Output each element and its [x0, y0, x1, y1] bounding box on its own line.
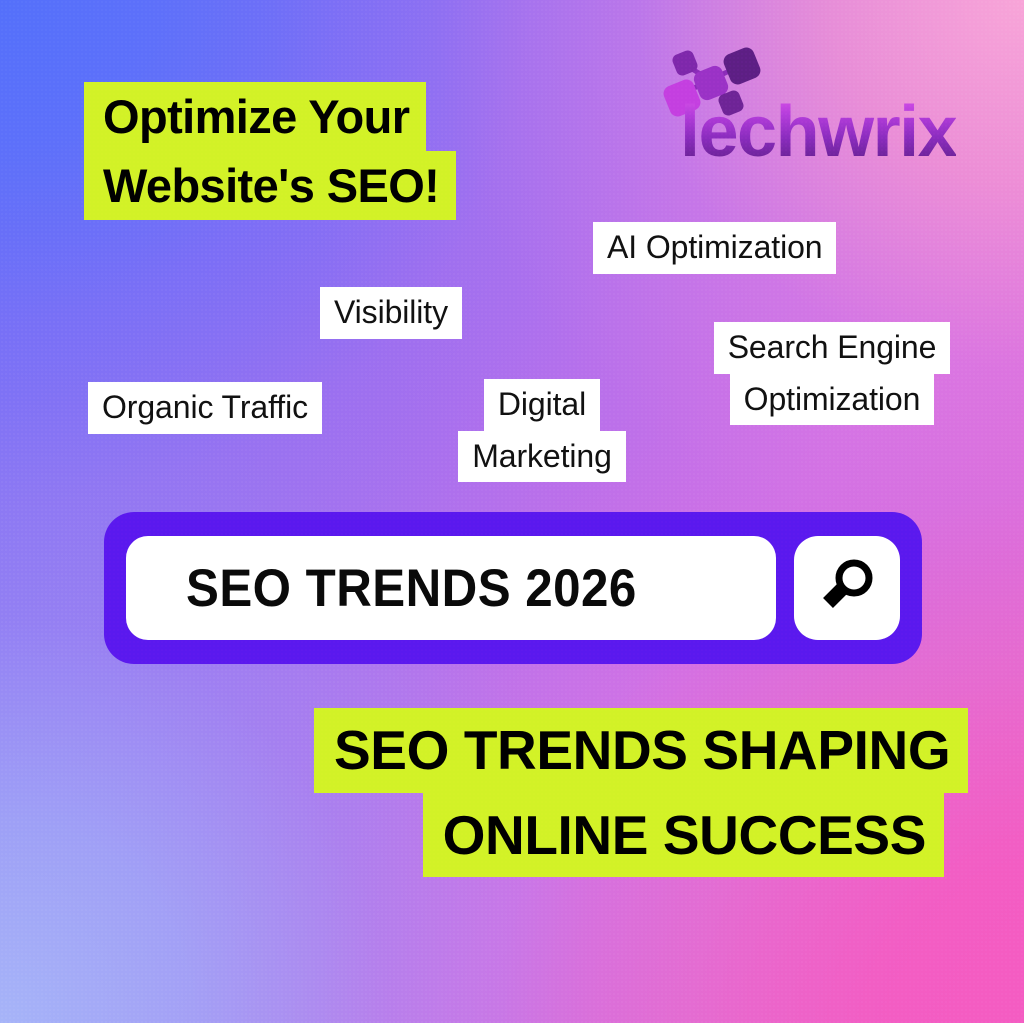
- keyword-chip-label: Organic Traffic: [88, 382, 322, 434]
- brand-logo[interactable]: lechwrix: [640, 44, 940, 169]
- keyword-chip-label: Digital: [484, 379, 600, 431]
- keyword-chip-label: Visibility: [320, 287, 462, 339]
- brand-wordmark: lechwrix: [680, 96, 956, 168]
- bottom-headline: SEO TRENDS SHAPING ONLINE SUCCESS: [314, 708, 944, 877]
- bottom-headline-line-2: ONLINE SUCCESS: [423, 793, 944, 878]
- keyword-chip-ai-optimization: AI Optimization: [593, 222, 836, 274]
- seo-promo-poster: lechwrix Optimize Your Website's SEO! AI…: [0, 0, 1024, 1023]
- keyword-chip-label: Marketing: [458, 431, 626, 483]
- search-input[interactable]: SEO TRENDS 2026: [126, 536, 776, 640]
- bottom-headline-line-1: SEO TRENDS SHAPING: [314, 708, 968, 793]
- keyword-chip-search-engine-optimization: Search Engine Optimization: [712, 322, 952, 425]
- top-headline: Optimize Your Website's SEO!: [84, 82, 456, 220]
- search-button[interactable]: [794, 536, 900, 640]
- search-bar: SEO TRENDS 2026: [104, 512, 922, 664]
- keyword-chip-label: Optimization: [730, 374, 935, 426]
- search-input-value: SEO TRENDS 2026: [186, 558, 637, 619]
- keyword-chip-organic-traffic: Organic Traffic: [88, 382, 322, 434]
- keyword-chip-visibility: Visibility: [320, 287, 462, 339]
- top-headline-line-2: Website's SEO!: [84, 151, 456, 220]
- magnifier-icon: [816, 555, 878, 622]
- keyword-chip-label: Search Engine: [714, 322, 951, 374]
- top-headline-line-1: Optimize Your: [84, 82, 426, 151]
- keyword-chip-digital-marketing: Digital Marketing: [456, 379, 628, 482]
- keyword-chip-label: AI Optimization: [593, 222, 836, 274]
